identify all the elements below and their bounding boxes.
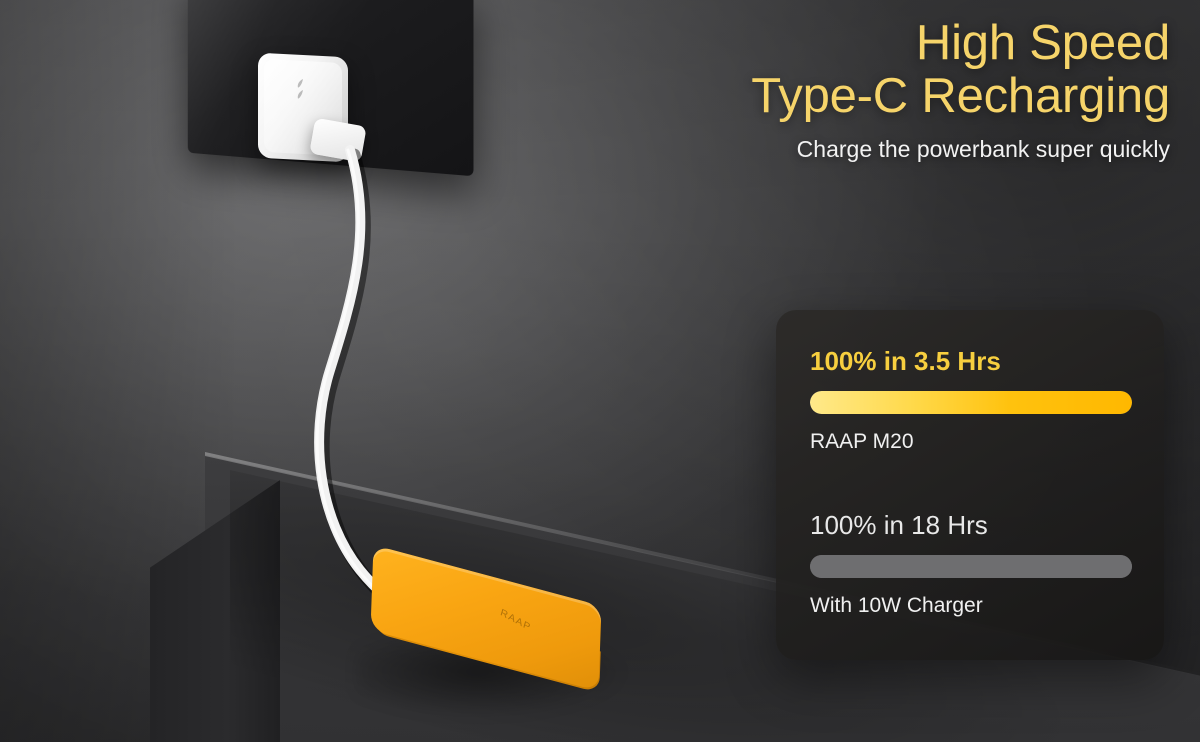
progress-bar-track-secondary xyxy=(810,555,1132,578)
stat-title-secondary: 100% in 18 Hrs xyxy=(810,510,1132,541)
product-banner: RAAP High Speed Type-C Recharging Charge… xyxy=(0,0,1200,742)
charging-speed-card: 100% in 3.5 Hrs RAAP M20 100% in 18 Hrs … xyxy=(776,310,1164,660)
headline-subtitle: Charge the powerbank super quickly xyxy=(410,136,1170,163)
progress-bar-fill-secondary xyxy=(810,555,1132,578)
stat-label-secondary: With 10W Charger xyxy=(810,594,1132,618)
stat-label-primary: RAAP M20 xyxy=(810,430,1132,454)
stat-row-raap-m20: 100% in 3.5 Hrs RAAP M20 xyxy=(810,346,1132,454)
stat-row-10w-charger: 100% in 18 Hrs With 10W Charger xyxy=(810,510,1132,618)
power-bank: RAAP xyxy=(372,575,612,693)
charger-brand-icon xyxy=(291,76,315,103)
progress-bar-track-primary xyxy=(810,391,1132,414)
headline-group: High Speed Type-C Recharging Charge the … xyxy=(410,18,1170,163)
stat-title-primary: 100% in 3.5 Hrs xyxy=(810,346,1132,377)
headline-line-2: Type-C Recharging xyxy=(410,71,1170,122)
headline-line-1: High Speed xyxy=(410,18,1170,69)
progress-bar-fill-primary xyxy=(810,391,1132,414)
